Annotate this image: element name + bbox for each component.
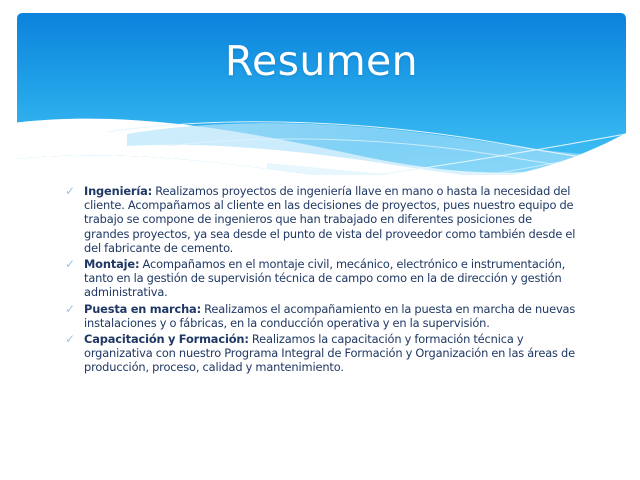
slide-title: Resumen	[17, 38, 626, 84]
bullet-lead-ingenieria: Ingeniería:	[84, 184, 152, 198]
check-icon: ✓	[62, 332, 84, 346]
bullet-lead-puesta-en-marcha: Puesta en marcha:	[84, 302, 201, 316]
bullet-lead-capacitacion-formacion: Capacitación y Formación:	[84, 332, 249, 346]
check-icon: ✓	[62, 257, 84, 271]
bullet-item-puesta-en-marcha: ✓ Puesta en marcha: Realizamos el acompa…	[62, 302, 580, 330]
check-icon: ✓	[62, 184, 84, 198]
bullet-text-capacitacion-formacion: Capacitación y Formación: Realizamos la …	[84, 332, 580, 375]
bullet-item-ingenieria: ✓ Ingeniería: Realizamos proyectos de in…	[62, 184, 580, 255]
bullet-item-montaje: ✓ Montaje: Acompañamos en el montaje civ…	[62, 257, 580, 300]
bullet-text-puesta-en-marcha: Puesta en marcha: Realizamos el acompaña…	[84, 302, 580, 330]
bullet-list: ✓ Ingeniería: Realizamos proyectos de in…	[62, 184, 580, 377]
bullet-lead-montaje: Montaje:	[84, 257, 139, 271]
bullet-item-capacitacion-formacion: ✓ Capacitación y Formación: Realizamos l…	[62, 332, 580, 375]
bullet-body-ingenieria: Realizamos proyectos de ingeniería llave…	[84, 184, 575, 255]
check-icon: ✓	[62, 302, 84, 316]
bullet-body-montaje: Acompañamos en el montaje civil, mecánic…	[84, 257, 565, 299]
bullet-text-ingenieria: Ingeniería: Realizamos proyectos de inge…	[84, 184, 580, 255]
slide-canvas: Resumen ✓ Ingeniería: Realizamos proyect…	[0, 0, 640, 480]
bullet-text-montaje: Montaje: Acompañamos en el montaje civil…	[84, 257, 580, 300]
